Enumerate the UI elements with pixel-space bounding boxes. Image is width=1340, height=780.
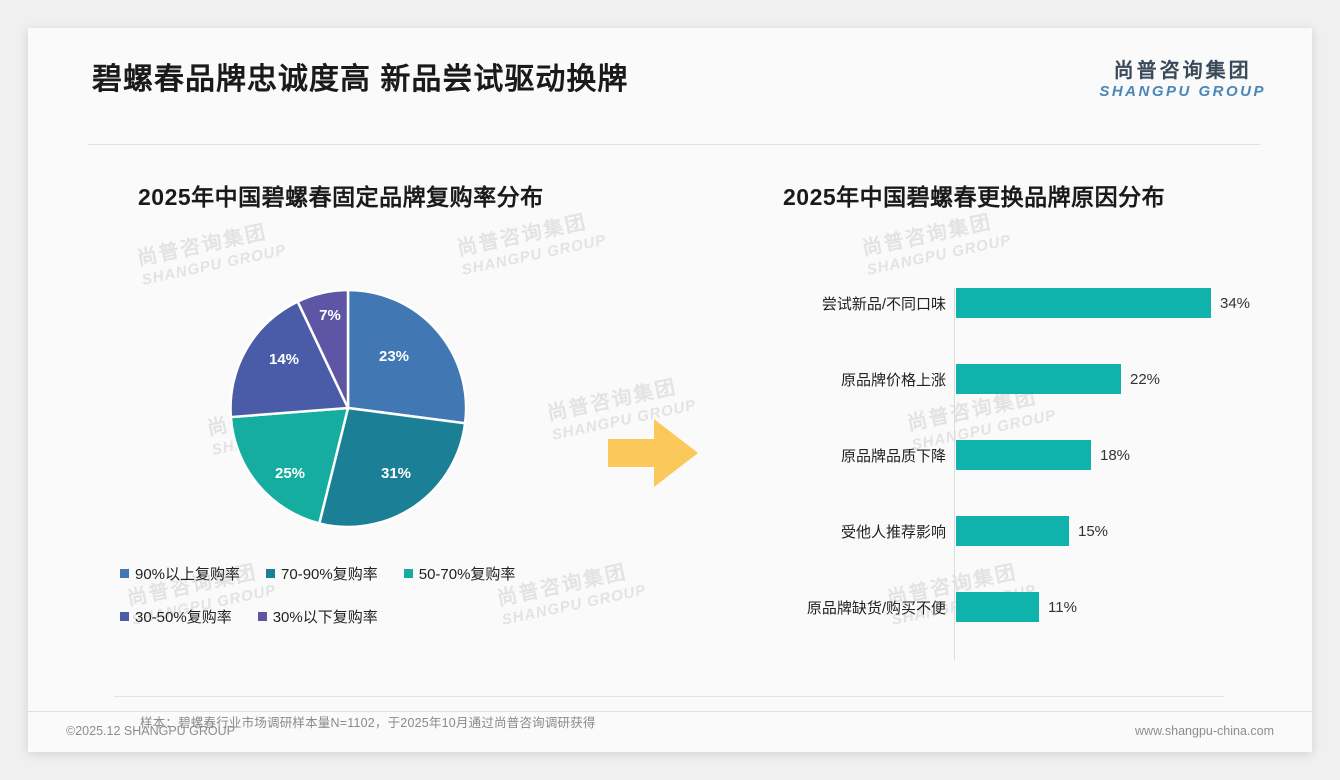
bar-fill-1 [956, 288, 1211, 318]
legend-row: 90%以上复购率 70-90%复购率 50-70%复购率 [120, 563, 660, 584]
legend-swatch-icon [404, 569, 413, 578]
bar-row[interactable]: 原品牌品质下降 18% [778, 440, 1268, 470]
legend-swatch-icon [266, 569, 275, 578]
footer-copyright: ©2025.12 SHANGPU GROUP [66, 724, 235, 738]
bar-value-1: 34% [1220, 295, 1250, 312]
legend-row: 30-50%复购率 30%以下复购率 [120, 606, 660, 627]
bar-fill-2 [956, 364, 1121, 394]
pie-legend: 90%以上复购率 70-90%复购率 50-70%复购率 30-50%复购率 [120, 563, 660, 649]
bar-row[interactable]: 原品牌价格上涨 22% [778, 364, 1268, 394]
pie-slice-value-1: 23% [379, 348, 409, 365]
legend-item-1[interactable]: 90%以上复购率 [120, 563, 240, 584]
legend-swatch-icon [120, 612, 129, 621]
legend-label-5: 30%以下复购率 [273, 606, 378, 627]
logo-english-name: SHANGPU GROUP [1099, 83, 1266, 101]
header-divider [88, 144, 1260, 145]
bar-chart: 尝试新品/不同口味 34% 原品牌价格上涨 22% 原品牌品质下降 18% 受他… [778, 288, 1268, 668]
pie-chart-panel: 2025年中国碧螺春固定品牌复购率分布 23% 31% 25% 14% 7% [88, 178, 688, 678]
pie-slice-value-5: 7% [319, 307, 341, 324]
legend-item-2[interactable]: 70-90%复购率 [266, 563, 378, 584]
bar-category-5: 原品牌缺货/购买不便 [778, 597, 956, 618]
legend-label-3: 50-70%复购率 [419, 563, 516, 584]
page-title: 碧螺春品牌忠诚度高 新品尝试驱动换牌 [92, 54, 628, 98]
legend-label-4: 30-50%复购率 [135, 606, 232, 627]
pie-svg: 23% 31% 25% 14% 7% [228, 288, 468, 528]
bar-value-5: 11% [1048, 599, 1077, 616]
bar-category-4: 受他人推荐影响 [778, 521, 956, 542]
bar-value-2: 22% [1130, 371, 1160, 388]
bar-fill-4 [956, 516, 1069, 546]
logo-chinese-name: 尚普咨询集团 [1099, 60, 1266, 83]
company-logo: 尚普咨询集团 SHANGPU GROUP [1099, 60, 1266, 101]
bar-row[interactable]: 受他人推荐影响 15% [778, 516, 1268, 546]
bar-value-3: 18% [1100, 447, 1130, 464]
legend-item-3[interactable]: 50-70%复购率 [404, 563, 516, 584]
pie-chart-title: 2025年中国碧螺春固定品牌复购率分布 [138, 178, 688, 212]
bar-row[interactable]: 原品牌缺货/购买不便 11% [778, 592, 1268, 622]
slide-card: 尚普咨询集团 SHANGPU GROUP 尚普咨询集团 SHANGPU GROU… [28, 28, 1312, 752]
bar-chart-panel: 2025年中国碧螺春更换品牌原因分布 尝试新品/不同口味 34% 原品牌价格上涨… [728, 178, 1268, 678]
bar-value-4: 15% [1078, 523, 1108, 540]
header: 碧螺春品牌忠诚度高 新品尝试驱动换牌 尚普咨询集团 SHANGPU GROUP [28, 28, 1312, 116]
bar-category-2: 原品牌价格上涨 [778, 369, 956, 390]
pie-slice-value-3: 25% [275, 465, 305, 482]
footnote-divider [114, 696, 1224, 697]
bar-category-3: 原品牌品质下降 [778, 445, 956, 466]
pie-chart: 23% 31% 25% 14% 7% [228, 288, 468, 528]
bar-chart-title: 2025年中国碧螺春更换品牌原因分布 [783, 178, 1268, 212]
legend-label-2: 70-90%复购率 [281, 563, 378, 584]
legend-swatch-icon [120, 569, 129, 578]
footer-website[interactable]: www.shangpu-china.com [1135, 724, 1274, 738]
bar-fill-5 [956, 592, 1039, 622]
legend-label-1: 90%以上复购率 [135, 563, 240, 584]
pie-slice-value-2: 31% [381, 465, 411, 482]
pie-slice-value-4: 14% [269, 351, 299, 368]
bar-category-1: 尝试新品/不同口味 [778, 293, 956, 314]
right-arrow-icon [606, 413, 701, 493]
footer: ©2025.12 SHANGPU GROUP www.shangpu-china… [28, 711, 1312, 752]
legend-item-5[interactable]: 30%以下复购率 [258, 606, 378, 627]
bar-fill-3 [956, 440, 1091, 470]
flow-arrow [606, 413, 701, 493]
legend-swatch-icon [258, 612, 267, 621]
bar-row[interactable]: 尝试新品/不同口味 34% [778, 288, 1268, 318]
legend-item-4[interactable]: 30-50%复购率 [120, 606, 232, 627]
